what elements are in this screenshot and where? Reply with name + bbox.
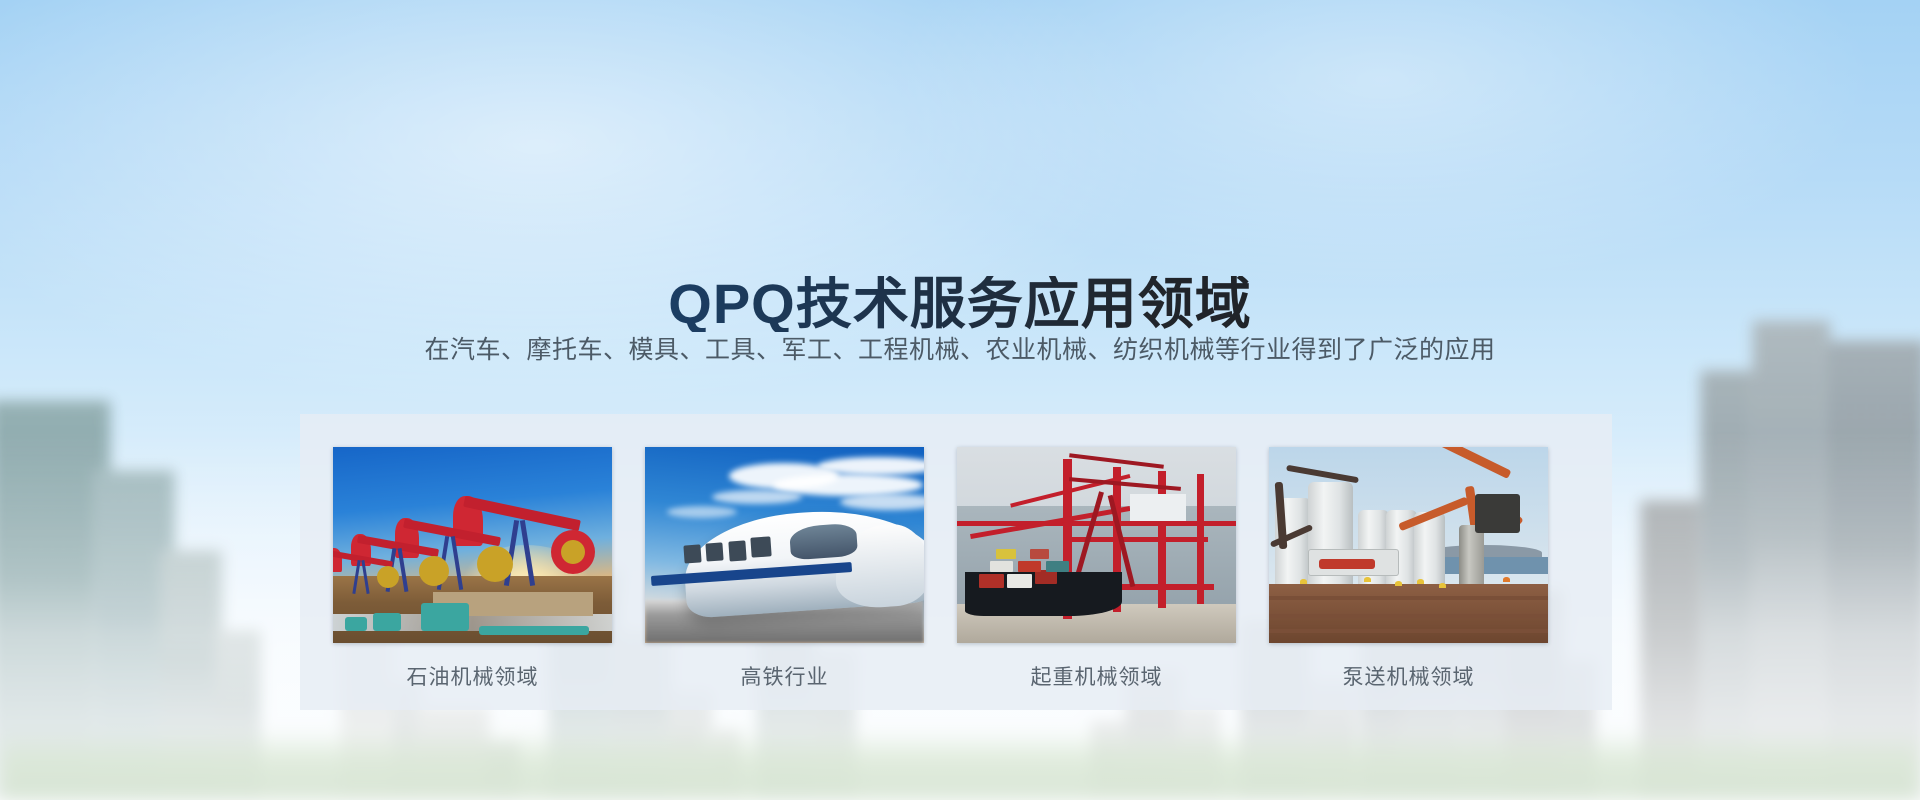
port-cranes-image[interactable]	[957, 447, 1236, 643]
concrete-pump-image[interactable]	[1269, 447, 1548, 643]
card-item[interactable]: 泵送机械领域	[1269, 447, 1548, 691]
card-caption: 高铁行业	[645, 661, 924, 691]
page-title: QPQ技术服务应用领域	[0, 276, 1920, 332]
application-areas-panel: 石油机械领域	[300, 414, 1612, 710]
card-item[interactable]: 起重机械领域	[957, 447, 1236, 691]
card-list: 石油机械领域	[300, 414, 1612, 710]
page-subtitle: 在汽车、摩托车、模具、工具、军工、工程机械、农业机械、纺织机械等行业得到了广泛的…	[0, 330, 1920, 366]
card-caption: 泵送机械领域	[1269, 661, 1548, 691]
card-item[interactable]: 石油机械领域	[333, 447, 612, 691]
card-caption: 起重机械领域	[957, 661, 1236, 691]
content-layer: QPQ技术服务应用领域 在汽车、摩托车、模具、工具、军工、工程机械、农业机械、纺…	[0, 0, 1920, 800]
card-caption: 石油机械领域	[333, 661, 612, 691]
oil-pumpjacks-image[interactable]	[333, 447, 612, 643]
card-item[interactable]: 高铁行业	[645, 447, 924, 691]
high-speed-train-image[interactable]	[645, 447, 924, 643]
